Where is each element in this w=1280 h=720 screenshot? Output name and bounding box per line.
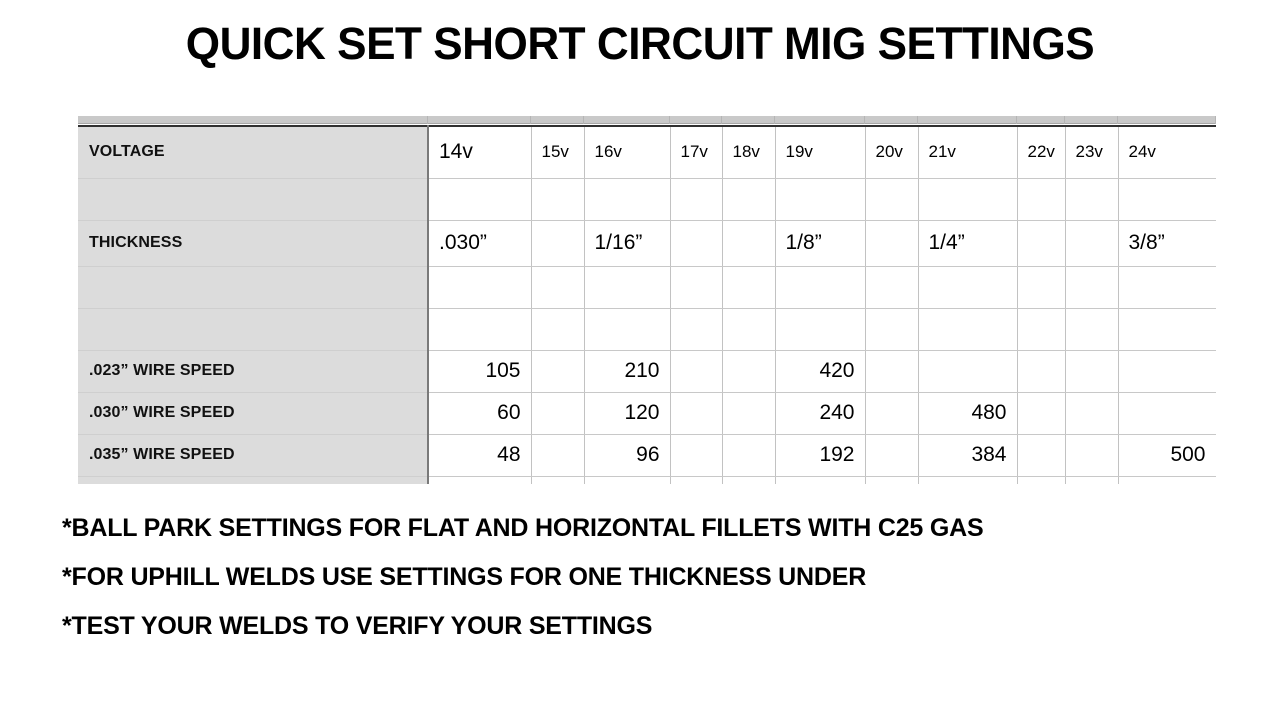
note-item-3: *TEST YOUR WELDS TO VERIFY YOUR SETTINGS [62,612,1242,641]
cell-blank2-24v [1118,266,1216,308]
cell-wire030-22v [1017,392,1065,434]
cell-voltage-15v: 15v [531,126,584,178]
ruler-segment [428,116,531,124]
cell-wire035-14v: 48 [428,434,531,476]
ruler-segment [1118,116,1216,124]
cell-wire035-23v [1065,434,1118,476]
cell-wire035-16v: 96 [584,434,670,476]
cell-blank3-14v [428,308,531,350]
table-row-wire-023: .023” WIRE SPEED 105 210 420 [78,350,1216,392]
row-label-wire-023: .023” WIRE SPEED [78,350,428,392]
cell-blank2-14v [428,266,531,308]
table-row-wire-035: .035” WIRE SPEED 48 96 192 384 500 [78,434,1216,476]
cell-thickness-15v [531,220,584,266]
cell-thickness-22v [1017,220,1065,266]
row-label-wire-030: .030” WIRE SPEED [78,392,428,434]
row-label-voltage: VOLTAGE [78,126,428,178]
cell-wire035-20v [865,434,918,476]
row-label-clipped [78,476,428,484]
mig-settings-table: VOLTAGE 14v 15v 16v 17v 18v 19v 20v 21v … [78,125,1216,484]
cell-wire030-14v: 60 [428,392,531,434]
cell-blank3-15v [531,308,584,350]
table-row-voltage: VOLTAGE 14v 15v 16v 17v 18v 19v 20v 21v … [78,126,1216,178]
table-row-thickness: THICKNESS .030” 1/16” 1/8” 1/4” 3/8” [78,220,1216,266]
cell-blank2-19v [775,266,865,308]
cell-wire023-20v [865,350,918,392]
cell-wire030-23v [1065,392,1118,434]
cell-wire030-15v [531,392,584,434]
table-row-spacer-2 [78,266,1216,308]
row-label-thickness: THICKNESS [78,220,428,266]
cell-clipped-22v [1017,476,1065,484]
cell-wire030-24v-highlighted [1118,392,1216,434]
cell-thickness-19v: 1/8” [775,220,865,266]
cell-wire023-19v: 420 [775,350,865,392]
ruler-segment [722,116,775,124]
cell-wire035-17v [670,434,722,476]
cell-wire023-22v [1017,350,1065,392]
cell-thickness-17v [670,220,722,266]
cell-blank2-17v [670,266,722,308]
cell-wire035-21v: 384 [918,434,1017,476]
cell-thickness-14v: .030” [428,220,531,266]
cell-voltage-14v: 14v [428,126,531,178]
cell-clipped-19v [775,476,865,484]
table-row-clipped [78,476,1216,484]
cell-clipped-21v [918,476,1017,484]
cell-blank3-22v [1017,308,1065,350]
cell-wire035-19v: 192 [775,434,865,476]
spreadsheet-column-ruler [78,116,1216,124]
table-row-spacer-3 [78,308,1216,350]
ruler-segment [1065,116,1118,124]
cell-thickness-23v [1065,220,1118,266]
cell-blank1-14v [428,178,531,220]
cell-wire030-16v: 120 [584,392,670,434]
cell-thickness-16v: 1/16” [584,220,670,266]
cell-wire035-18v [722,434,775,476]
row-label-wire-035: .035” WIRE SPEED [78,434,428,476]
cell-clipped-14v [428,476,531,484]
cell-voltage-21v: 21v [918,126,1017,178]
cell-blank3-16v [584,308,670,350]
cell-blank2-21v [918,266,1017,308]
ruler-segment [865,116,918,124]
row-label-blank-3 [78,308,428,350]
cell-blank3-21v [918,308,1017,350]
cell-thickness-18v [722,220,775,266]
cell-blank3-18v [722,308,775,350]
cell-blank2-20v [865,266,918,308]
cell-clipped-18v [722,476,775,484]
page-title: QUICK SET SHORT CIRCUIT MIG SETTINGS [13,18,1267,70]
cell-blank1-18v [722,178,775,220]
cell-blank1-20v [865,178,918,220]
cell-blank1-21v [918,178,1017,220]
ruler-segment [584,116,670,124]
table-row-spacer-1 [78,178,1216,220]
cell-wire030-21v: 480 [918,392,1017,434]
cell-blank3-17v [670,308,722,350]
cell-blank1-15v [531,178,584,220]
cell-blank2-15v [531,266,584,308]
cell-voltage-16v: 16v [584,126,670,178]
cell-blank1-22v [1017,178,1065,220]
cell-wire030-20v [865,392,918,434]
cell-clipped-20v [865,476,918,484]
notes-list: *BALL PARK SETTINGS FOR FLAT AND HORIZON… [62,514,1242,661]
cell-blank1-19v [775,178,865,220]
cell-wire023-14v: 105 [428,350,531,392]
cell-clipped-15v [531,476,584,484]
cell-blank3-19v [775,308,865,350]
cell-wire023-16v: 210 [584,350,670,392]
cell-voltage-17v: 17v [670,126,722,178]
cell-wire023-17v [670,350,722,392]
mig-settings-table-container: VOLTAGE 14v 15v 16v 17v 18v 19v 20v 21v … [78,116,1216,484]
cell-voltage-18v: 18v [722,126,775,178]
cell-blank3-23v [1065,308,1118,350]
cell-wire030-17v [670,392,722,434]
cell-wire030-19v: 240 [775,392,865,434]
cell-wire035-22v [1017,434,1065,476]
cell-thickness-24v: 3/8” [1118,220,1216,266]
ruler-segment [531,116,584,124]
cell-blank2-18v [722,266,775,308]
cell-voltage-23v: 23v [1065,126,1118,178]
cell-blank3-20v [865,308,918,350]
cell-thickness-20v [865,220,918,266]
cell-blank1-17v [670,178,722,220]
cell-wire035-15v [531,434,584,476]
cell-clipped-24v [1118,476,1216,484]
ruler-segment [1017,116,1065,124]
cell-wire023-23v [1065,350,1118,392]
row-label-blank-2 [78,266,428,308]
cell-voltage-20v: 20v [865,126,918,178]
cell-wire023-18v [722,350,775,392]
cell-thickness-21v: 1/4” [918,220,1017,266]
note-item-1: *BALL PARK SETTINGS FOR FLAT AND HORIZON… [62,514,1242,543]
ruler-segment [918,116,1017,124]
cell-wire035-24v: 500 [1118,434,1216,476]
row-label-blank-1 [78,178,428,220]
cell-blank1-23v [1065,178,1118,220]
cell-clipped-23v [1065,476,1118,484]
note-item-2: *FOR UPHILL WELDS USE SETTINGS FOR ONE T… [62,563,1242,592]
cell-blank1-16v [584,178,670,220]
cell-wire023-21v-highlighted [918,350,1017,392]
cell-voltage-22v: 22v [1017,126,1065,178]
cell-blank2-16v [584,266,670,308]
cell-blank2-22v [1017,266,1065,308]
cell-voltage-24v: 24v [1118,126,1216,178]
cell-blank3-24v [1118,308,1216,350]
cell-voltage-19v: 19v [775,126,865,178]
cell-wire030-18v [722,392,775,434]
cell-wire023-24v [1118,350,1216,392]
cell-clipped-17v [670,476,722,484]
ruler-segment [775,116,865,124]
cell-clipped-16v [584,476,670,484]
cell-blank1-24v [1118,178,1216,220]
cell-blank2-23v [1065,266,1118,308]
cell-wire023-15v [531,350,584,392]
ruler-segment [78,116,428,124]
table-row-wire-030: .030” WIRE SPEED 60 120 240 480 [78,392,1216,434]
ruler-segment [670,116,722,124]
